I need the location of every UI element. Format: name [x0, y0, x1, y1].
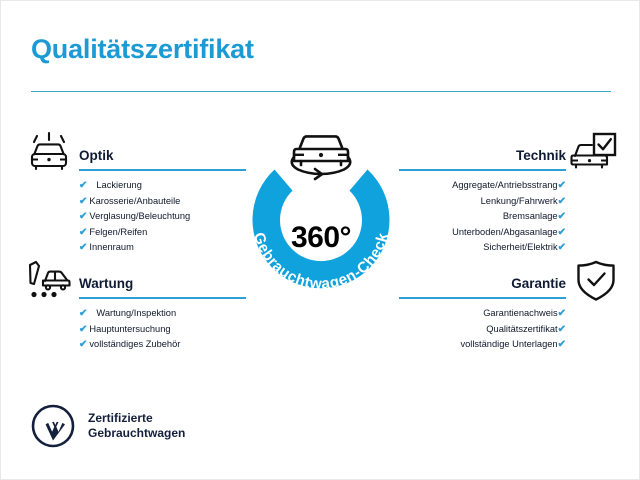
list-item-label: Qualitätszertifikat: [486, 324, 557, 334]
footer: Zertifizierte Gebrauchtwagen: [31, 404, 185, 448]
car-shine-icon: [25, 131, 73, 175]
check-icon: ✔: [79, 241, 87, 256]
section-garantie-underline: [399, 297, 566, 299]
list-item: Sicherheit/Elektrik✔: [399, 240, 566, 256]
section-technik-underline: [399, 169, 566, 171]
check-icon: ✔: [558, 241, 566, 256]
check-icon: ✔: [79, 179, 87, 194]
list-item: Qualitätszertifikat✔: [399, 322, 566, 338]
check-icon: ✔: [558, 307, 566, 322]
check-icon: ✔: [558, 338, 566, 353]
section-garantie: Garantie Garantienachweis✔ Qualitätszert…: [399, 269, 566, 353]
list-item: ✔Lackierung: [79, 178, 246, 194]
list-item: ✔Karosserie/Anbauteile: [79, 194, 246, 210]
footer-line-1: Zertifizierte: [88, 411, 185, 427]
check-icon: ✔: [79, 338, 87, 353]
qualitaetszertifikat-page: Qualitätszertifikat: [0, 0, 640, 480]
section-wartung-head: Wartung: [79, 269, 246, 299]
list-item-label: Innenraum: [89, 242, 133, 252]
check-icon: ✔: [558, 195, 566, 210]
list-item: ✔Innenraum: [79, 240, 246, 256]
section-wartung-title: Wartung: [79, 276, 133, 291]
list-item: Aggregate/Antriebsstrang✔: [399, 178, 566, 194]
page-title: Qualitätszertifikat: [31, 34, 254, 65]
section-technik-title: Technik: [516, 148, 566, 163]
list-item: Unterboden/Abgasanlage✔: [399, 225, 566, 241]
list-item-label: Hauptuntersuchung: [89, 324, 170, 334]
wrench-car-icon: [25, 259, 73, 303]
list-item-label: Garantienachweis: [483, 308, 557, 318]
list-item: vollständige Unterlagen✔: [399, 337, 566, 353]
section-optik-list: ✔Lackierung ✔Karosserie/Anbauteile ✔Verg…: [79, 178, 246, 256]
car-rotate-icon: [292, 136, 351, 179]
section-technik-head: Technik: [399, 141, 566, 171]
list-item-label: Verglasung/Beleuchtung: [89, 211, 190, 221]
list-item-label: Lenkung/Fahrwerk: [481, 196, 558, 206]
list-item-label: Karosserie/Anbauteile: [89, 196, 180, 206]
title-divider: [31, 91, 611, 92]
section-wartung-underline: [79, 297, 246, 299]
check-icon: ✔: [558, 179, 566, 194]
360-gebrauchtwagen-check-badge: Gebrauchtwagen-Check 360°: [233, 119, 409, 305]
section-optik: Optik ✔Lackierung ✔Karosserie/Anbauteile…: [79, 141, 246, 256]
list-item: ✔Wartung/Inspektion: [79, 306, 246, 322]
list-item-label: Unterboden/Abgasanlage: [452, 227, 557, 237]
check-icon: ✔: [558, 210, 566, 225]
check-icon: ✔: [558, 323, 566, 338]
list-item-label: vollständiges Zubehör: [89, 339, 180, 349]
car-checkbox-icon: [569, 131, 617, 175]
section-garantie-list: Garantienachweis✔ Qualitätszertifikat✔ v…: [399, 306, 566, 353]
section-optik-head: Optik: [79, 141, 246, 171]
list-item-label: Bremsanlage: [503, 211, 558, 221]
section-garantie-head: Garantie: [399, 269, 566, 299]
list-item: ✔Hauptuntersuchung: [79, 322, 246, 338]
list-item-label: Wartung/Inspektion: [96, 308, 176, 318]
volkswagen-logo: [31, 404, 75, 448]
footer-text: Zertifizierte Gebrauchtwagen: [88, 411, 185, 442]
section-technik: Technik Aggregate/Antriebsstrang✔ Lenkun…: [399, 141, 566, 256]
list-item: Bremsanlage✔: [399, 209, 566, 225]
check-icon: ✔: [79, 323, 87, 338]
check-icon: ✔: [79, 195, 87, 210]
badge-degrees: 360°: [233, 221, 409, 255]
check-icon: ✔: [79, 210, 87, 225]
list-item: ✔Verglasung/Beleuchtung: [79, 209, 246, 225]
footer-line-2: Gebrauchtwagen: [88, 426, 185, 442]
list-item-label: vollständige Unterlagen: [460, 339, 557, 349]
list-item: ✔Felgen/Reifen: [79, 225, 246, 241]
section-wartung: Wartung ✔Wartung/Inspektion ✔Hauptunters…: [79, 269, 246, 353]
list-item: Lenkung/Fahrwerk✔: [399, 194, 566, 210]
shield-check-icon: [573, 259, 621, 303]
section-garantie-title: Garantie: [511, 276, 566, 291]
list-item: ✔vollständiges Zubehör: [79, 337, 246, 353]
section-technik-list: Aggregate/Antriebsstrang✔ Lenkung/Fahrwe…: [399, 178, 566, 256]
list-item-label: Lackierung: [96, 180, 141, 190]
list-item-label: Sicherheit/Elektrik: [483, 242, 557, 252]
section-optik-underline: [79, 169, 246, 171]
section-optik-title: Optik: [79, 148, 114, 163]
section-wartung-list: ✔Wartung/Inspektion ✔Hauptuntersuchung ✔…: [79, 306, 246, 353]
check-icon: ✔: [558, 226, 566, 241]
check-icon: ✔: [79, 226, 87, 241]
check-icon: ✔: [79, 307, 87, 322]
list-item-label: Felgen/Reifen: [89, 227, 147, 237]
list-item-label: Aggregate/Antriebsstrang: [452, 180, 557, 190]
list-item: Garantienachweis✔: [399, 306, 566, 322]
